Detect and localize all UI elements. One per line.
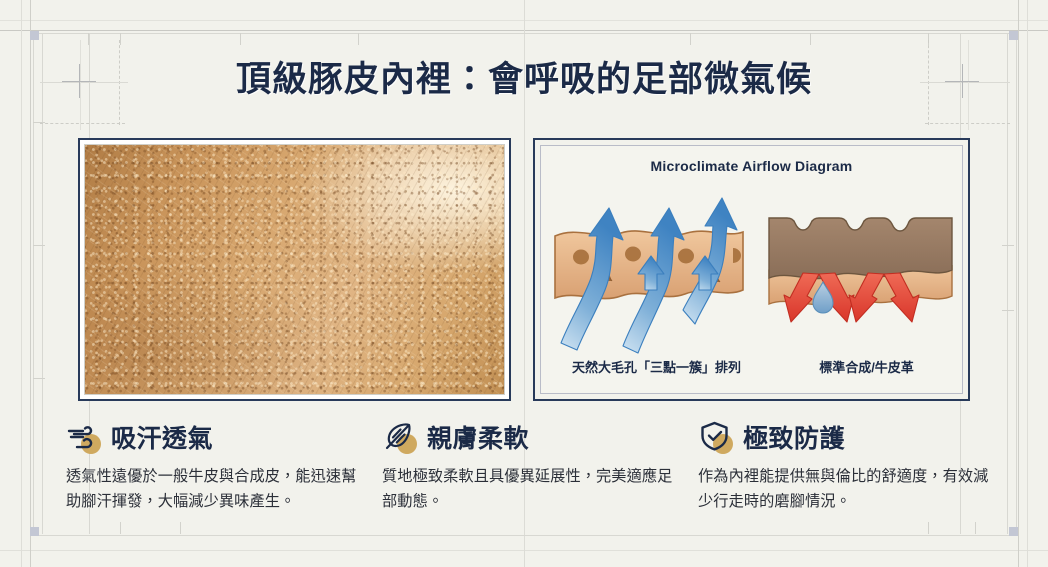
ruler-tick (1002, 245, 1014, 246)
feature-description: 作為內裡能提供無與倫比的舒適度，有效減少行走時的磨腳情況。 (698, 464, 992, 514)
ruler-tick (120, 522, 121, 534)
shield-check-icon (698, 420, 734, 454)
leather-photo-panel (78, 138, 511, 401)
grid-line-h (0, 30, 1048, 31)
feature-title: 吸汗透氣 (111, 419, 213, 455)
feather-icon (382, 420, 418, 454)
ruler-tick (120, 33, 121, 45)
feature-description: 透氣性遠優於一般牛皮與合成皮，能迅速幫助腳汗揮發，大幅減少異味產生。 (66, 464, 360, 514)
ruler-tick (33, 378, 45, 379)
page-title: 頂級豚皮內裡：會呼吸的足部微氣候 (0, 58, 1048, 102)
corner-marker (30, 31, 39, 40)
ruler-tick (33, 245, 45, 246)
ruler-tick (928, 522, 929, 534)
feature-list: 吸汗透氣 透氣性遠優於一般牛皮與合成皮，能迅速幫助腳汗揮發，大幅減少異味產生。 … (66, 418, 992, 514)
ruler-tick (1002, 310, 1014, 311)
grid-line-h (0, 550, 1048, 551)
pigskin-leather-texture-image (84, 144, 505, 395)
diagram-title: Microclimate Airflow Diagram (541, 158, 962, 174)
feature-protection: 極致防護 作為內裡能提供無與倫比的舒適度，有效減少行走時的磨腳情況。 (698, 418, 992, 514)
ruler-tick (975, 522, 976, 534)
microclimate-airflow-illustration (547, 178, 960, 363)
airflow-diagram-panel: Microclimate Airflow Diagram (533, 138, 970, 401)
synthetic-leather-group (769, 218, 952, 322)
feature-title: 極致防護 (743, 419, 845, 455)
dashed-guide-h (40, 123, 125, 124)
wind-icon (66, 420, 102, 454)
feature-title: 親膚柔軟 (427, 419, 529, 455)
ruler-tick (240, 33, 241, 45)
ruler-tick (180, 522, 181, 534)
feature-breathability: 吸汗透氣 透氣性遠優於一般牛皮與合成皮，能迅速幫助腳汗揮發，大幅減少異味產生。 (66, 418, 360, 514)
feature-softness: 親膚柔軟 質地極致柔軟且具優異延展性，完美適應足部動態。 (382, 418, 676, 514)
corner-marker (1009, 527, 1018, 536)
ruler-tick (33, 122, 45, 123)
ruler-tick (88, 33, 89, 45)
ruler-tick (358, 33, 359, 45)
ruler-tick (810, 33, 811, 45)
dashed-guide-h (925, 123, 1010, 124)
corner-marker (30, 527, 39, 536)
ruler-tick (690, 33, 691, 45)
grid-line-h (0, 20, 1048, 21)
diagram-caption-right: 標準合成/牛皮革 (779, 357, 954, 376)
ruler-tick (928, 33, 929, 45)
feature-description: 質地極致柔軟且具優異延展性，完美適應足部動態。 (382, 464, 676, 514)
breathable-leather-group (555, 198, 743, 353)
diagram-caption-left: 天然大毛孔「三點一簇」排列 (549, 357, 764, 376)
corner-marker (1009, 31, 1018, 40)
